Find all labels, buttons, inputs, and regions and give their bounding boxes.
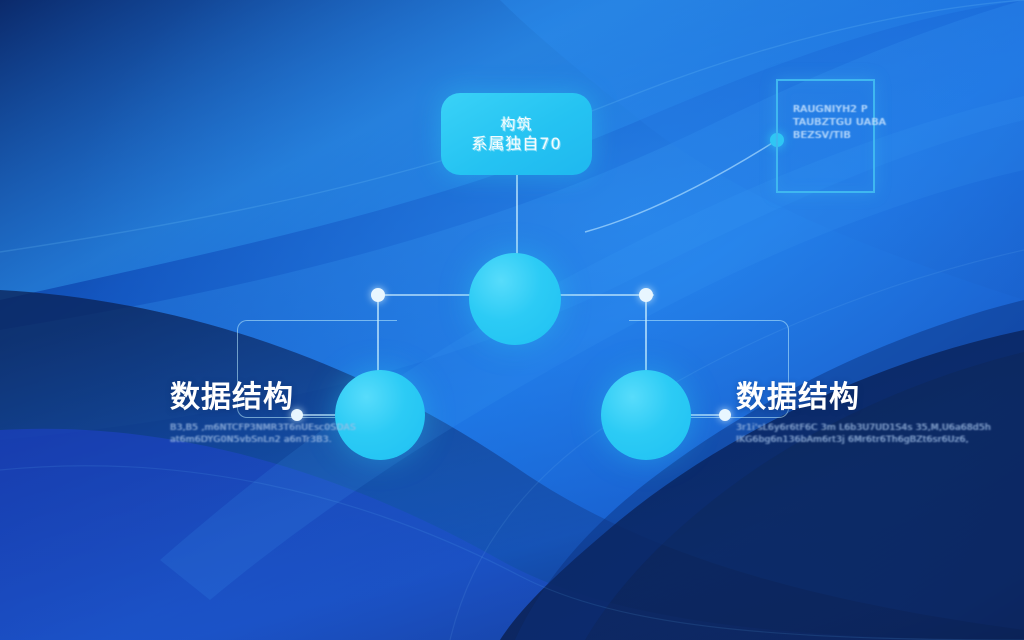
right-sub-line-2: IKG6bg6n136bAm6rt3j 6Mr6tr6Th6gBZt6sr6Uz… (736, 434, 926, 446)
left-label-subtext: B3,B5 ,m6NTCFP3NMR3T6nUEsc0SDAS at6m6DYG… (170, 422, 350, 446)
callout-line-1: RAUGNIYH2 P (793, 103, 881, 116)
right-label-block: 数据结构 3r1i'sL6y6r6tF6C 3m L6b3U7UD1S4s 35… (736, 380, 926, 446)
callout-line-2: TAUBZTGU UABA (793, 116, 881, 129)
callout-line-3: BEZSV/TIB (793, 129, 881, 142)
hub-title-line1: 构筑 (500, 114, 532, 134)
left-sub-line-1: B3,B5 ,m6NTCFP3NMR3T6nUEsc0SDAS (170, 422, 350, 434)
right-label-subtext: 3r1i'sL6y6r6tF6C 3m L6b3U7UD1S4s 35,M,U6… (736, 422, 926, 446)
left-label-block: 数据结构 B3,B5 ,m6NTCFP3NMR3T6nUEsc0SDAS at6… (170, 380, 350, 446)
center-node[interactable] (469, 253, 561, 345)
infographic-slide: 构筑 系属独自70 RAUGNIYH2 P TAUBZTGU UABA BEZS… (0, 0, 1024, 640)
hub-title-line2: 系属独自70 (471, 134, 561, 154)
hub-node[interactable]: 构筑 系属独自70 (441, 93, 592, 175)
right-node[interactable] (601, 370, 691, 460)
right-label-title: 数据结构 (736, 380, 926, 416)
left-sub-line-2: at6m6DYG0N5vbSnLn2 a6nTr3B3. (170, 434, 350, 446)
label-dot-right (719, 409, 731, 421)
left-label-title: 数据结构 (170, 380, 350, 416)
callout-text-block: RAUGNIYH2 P TAUBZTGU UABA BEZSV/TIB (793, 103, 881, 142)
right-sub-line-1: 3r1i'sL6y6r6tF6C 3m L6b3U7UD1S4s 35,M,U6… (736, 422, 926, 434)
branch-dot-left (371, 288, 385, 302)
branch-dot-right (639, 288, 653, 302)
